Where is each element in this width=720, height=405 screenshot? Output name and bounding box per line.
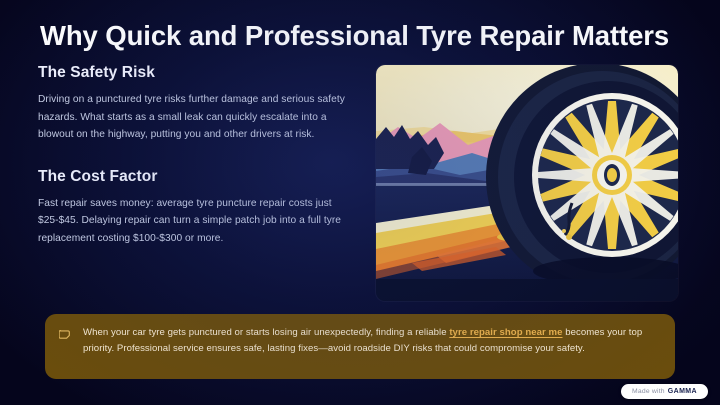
tyre-sunset-illustration [376,65,678,301]
callout-box: When your car tyre gets punctured or sta… [45,314,675,379]
badge-made-with-label: Made with [632,388,665,395]
badge-brand-label: GAMMA [668,388,697,395]
section-heading-cost-factor: The Cost Factor [38,168,350,186]
section-heading-safety-risk: The Safety Risk [38,64,350,82]
section-body-safety-risk: Driving on a punctured tyre risks furthe… [38,91,350,144]
slide-canvas: Why Quick and Professional Tyre Repair M… [0,0,720,405]
tyre-repair-shop-link[interactable]: tyre repair shop near me [449,327,562,338]
page-title: Why Quick and Professional Tyre Repair M… [40,19,680,52]
section-body-cost-factor: Fast repair saves money: average tyre pu… [38,195,350,248]
text-column: The Safety Risk Driving on a punctured t… [38,64,350,247]
illustration-artwork [376,65,678,301]
note-icon [59,328,72,341]
made-with-gamma-badge[interactable]: Made with GAMMA [621,384,708,399]
note-icon-glyph [59,328,72,341]
callout-text: When your car tyre gets punctured or sta… [83,325,659,357]
callout-text-before: When your car tyre gets punctured or sta… [83,327,449,338]
